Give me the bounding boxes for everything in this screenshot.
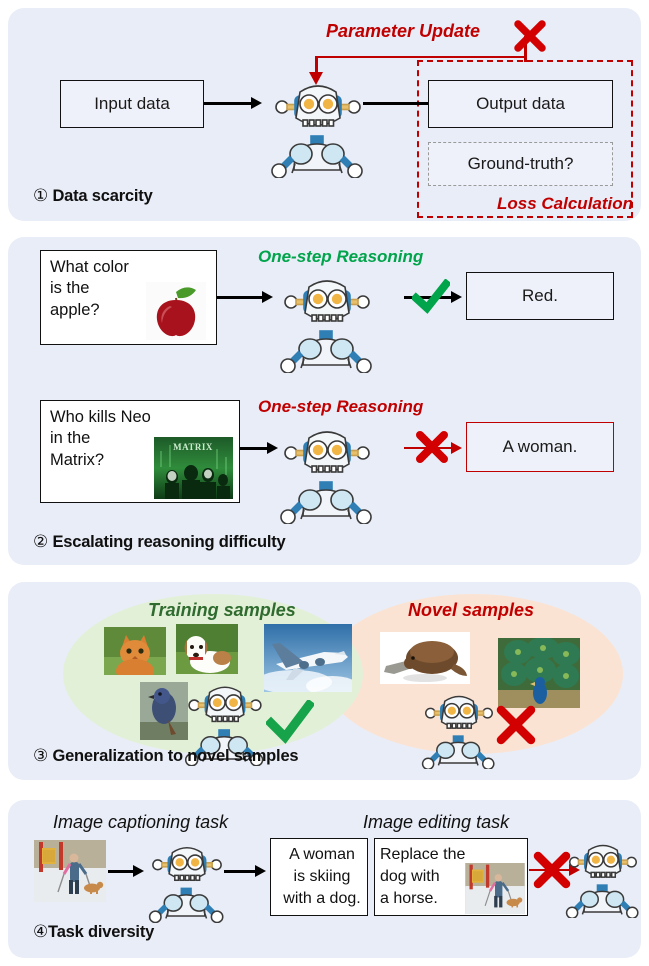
panel-generalization: Training samples Novel samples (8, 582, 641, 780)
answer-box-red[interactable]: Red. (466, 272, 614, 320)
arrow-robot-to-caption (224, 870, 258, 873)
edit-instruction-text: Replace the dog with a horse. (380, 844, 472, 909)
green-check-icon (266, 700, 314, 745)
arrow-apple-to-robot (217, 296, 265, 299)
skier-with-dog-photo (465, 863, 525, 914)
green-check-icon (412, 279, 450, 315)
reasoning-label-row1: One-step Reasoning (258, 247, 423, 267)
panel-2-number: ② (33, 532, 48, 551)
image-captioning-task-label: Image captioning task (53, 812, 228, 833)
airplane-photo (264, 624, 352, 692)
answer-box-a-woman[interactable]: A woman. (466, 422, 614, 472)
caption-output-text: A woman is skiing with a dog. (276, 844, 368, 909)
robot-icon (421, 687, 497, 771)
arrow-apple-to-robot-head (262, 291, 273, 303)
panel-2-caption-text: Escalating reasoning difficulty (52, 533, 285, 551)
red-cross-icon (495, 704, 537, 746)
panel-2-caption: ② Escalating reasoning difficulty (33, 532, 286, 552)
input-data-box[interactable]: Input data (60, 80, 204, 128)
reasoning-label-row2: One-step Reasoning (258, 397, 423, 417)
novel-samples-label: Novel samples (408, 600, 534, 621)
image-editing-task-label: Image editing task (363, 812, 509, 833)
arrow-input-to-robot-head (251, 97, 262, 109)
arrow-input-to-robot (204, 102, 254, 105)
dog-photo (176, 624, 238, 674)
red-cross-icon (414, 430, 450, 464)
robot-icon (279, 269, 375, 373)
apple-photo (146, 282, 206, 340)
loss-calculation-label: Loss Calculation (497, 194, 633, 214)
question-text-matrix: Who kills Neo in the Matrix? (50, 407, 165, 471)
ground-truth-box[interactable]: Ground-truth? (428, 142, 613, 186)
output-data-box[interactable]: Output data (428, 80, 613, 128)
panel-3-caption-text: Generalization to novel samples (52, 747, 298, 765)
panel-1-caption: ① Data scarcity (33, 186, 153, 206)
panel-3-number: ③ (33, 746, 48, 765)
arrow-matrix-to-robot-head (267, 442, 278, 454)
robot-icon (148, 838, 226, 920)
panel-4-caption-text: Task diversity (48, 923, 154, 941)
panel-task-diversity: Image captioning task Image editing task (8, 800, 641, 958)
svg-text:MATRIX: MATRIX (173, 442, 213, 452)
panel-1-number: ① (33, 186, 48, 205)
robot-icon (270, 74, 366, 178)
parameter-update-label: Parameter Update (326, 21, 480, 42)
arrow-robot-to-woman-head (451, 442, 462, 454)
arrow-robot-to-output (363, 102, 433, 105)
panel-1-caption-text: Data scarcity (52, 187, 152, 205)
arrow-robot-to-red-head (451, 291, 462, 303)
question-text-apple: What color is the apple? (50, 257, 150, 321)
training-samples-label: Training samples (148, 600, 296, 621)
red-cross-icon (512, 18, 548, 54)
panel-data-scarcity: Input data Output data Ground-truth? Par… (8, 8, 641, 221)
panel-4-number: ④ (33, 922, 48, 941)
arrow-photo-to-robot (108, 870, 136, 873)
skier-with-dog-photo (34, 840, 106, 902)
panel-4-caption: ④Task diversity (33, 922, 154, 942)
panel-3-caption: ③ Generalization to novel samples (33, 746, 298, 766)
matrix-poster-photo: MATRIX (154, 437, 233, 499)
parameter-update-line (315, 56, 526, 58)
peacock-photo (498, 638, 580, 708)
arrow-robot-to-caption-head (255, 865, 266, 877)
robot-icon (565, 836, 641, 918)
arrow-matrix-to-robot (240, 447, 270, 450)
bird-photo (140, 682, 188, 740)
platypus-photo (380, 632, 470, 684)
robot-icon (279, 420, 375, 524)
arrow-photo-to-robot-head (133, 865, 144, 877)
cat-photo (104, 627, 166, 675)
panel-escalating-reasoning: What color is the apple? One-step Reason… (8, 237, 641, 565)
